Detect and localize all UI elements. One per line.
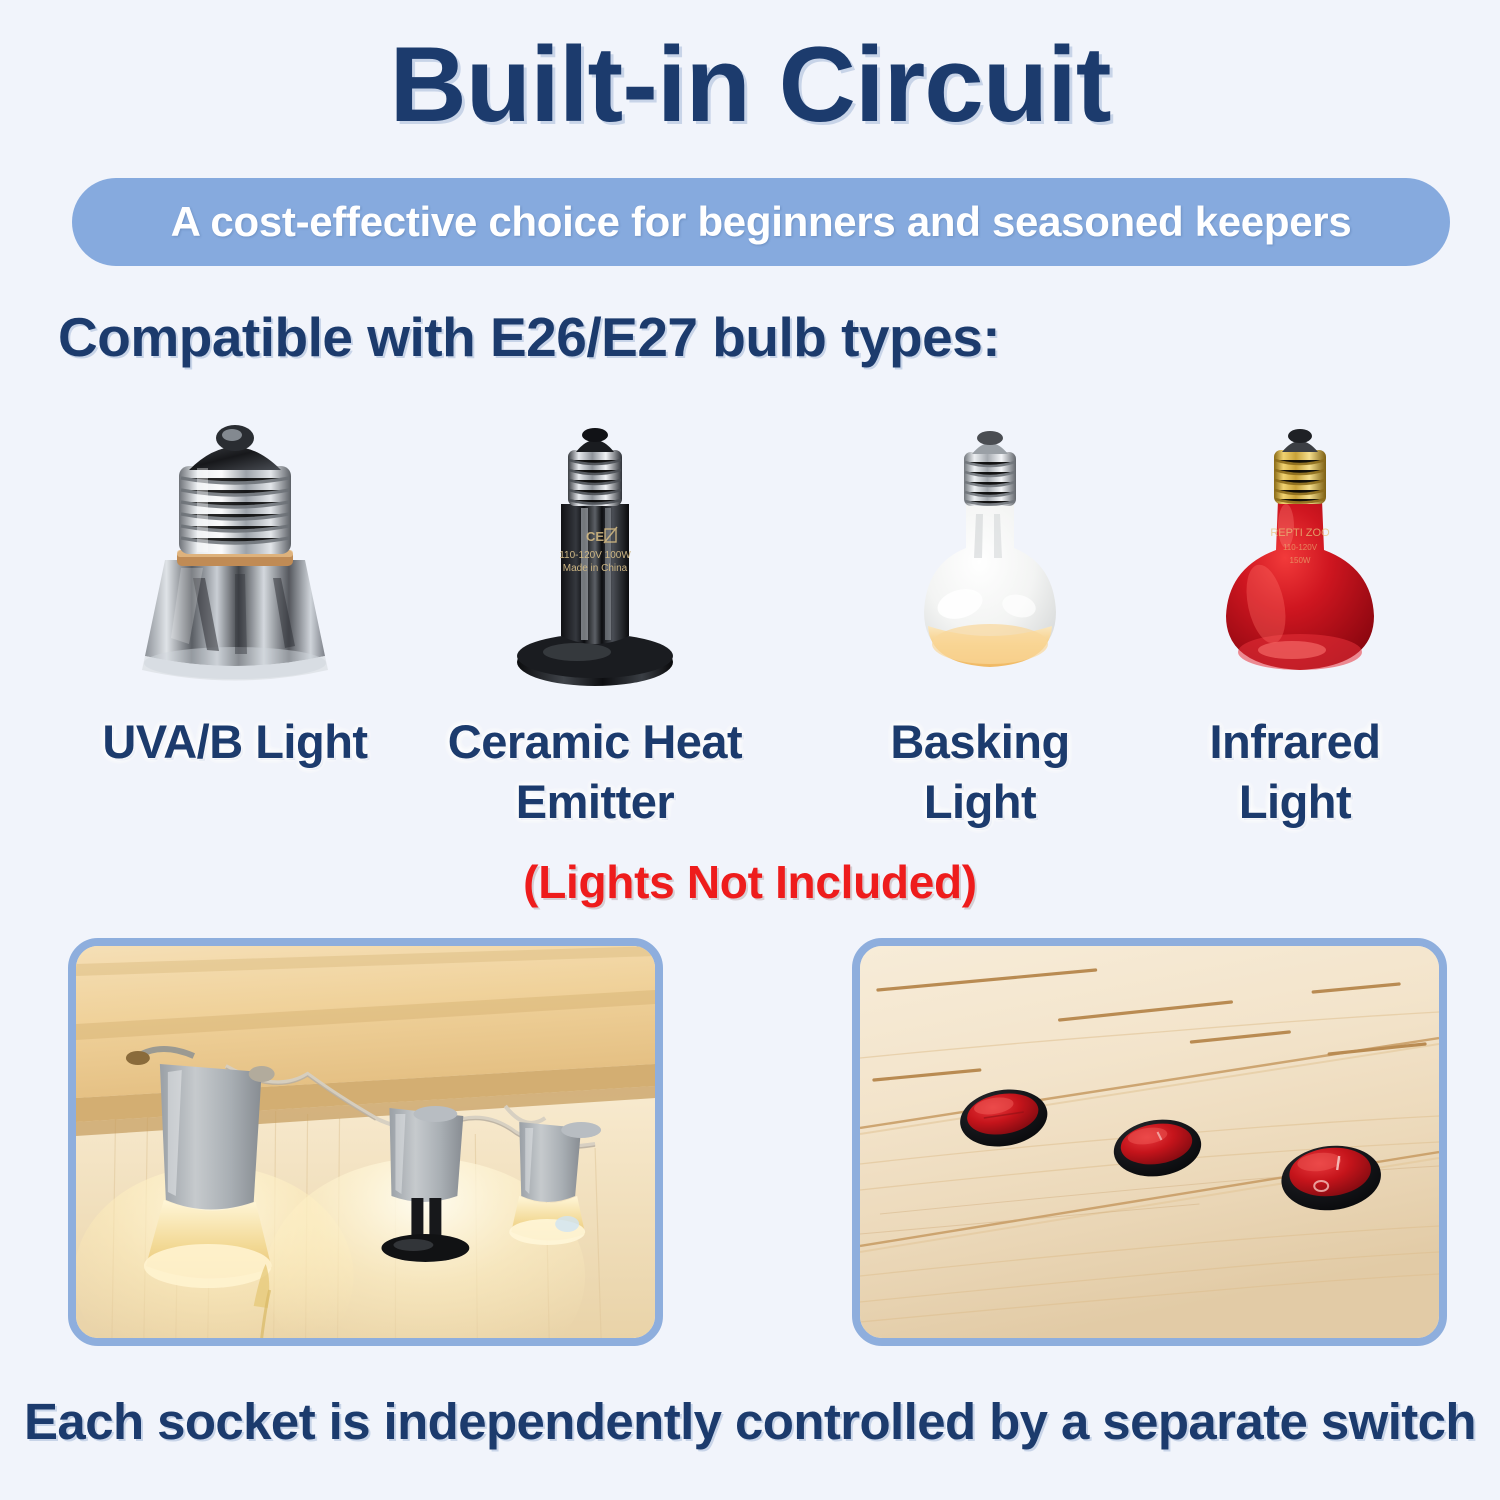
photo-lamp-sockets-inside-enclosure: [68, 938, 663, 1346]
infrared-bulb-icon: REPTI ZOO 110-120V 150W: [1150, 408, 1450, 708]
bulb-item-ceramic-heat-emitter: CE 110-120V 100W Made in China: [445, 408, 745, 708]
svg-text:110-120V 100W: 110-120V 100W: [559, 550, 631, 561]
subtitle-banner: A cost-effective choice for beginners an…: [72, 178, 1450, 266]
bulb-label-basking: BaskingLight: [800, 712, 1160, 832]
bulb-item-basking: [840, 408, 1140, 708]
page-title: Built-in Circuit: [0, 28, 1500, 140]
svg-text:Made in China: Made in China: [563, 563, 628, 574]
bulb-item-uvab: [85, 408, 385, 708]
bulb-label-ceramic: Ceramic HeatEmitter: [395, 712, 795, 832]
svg-text:CE: CE: [586, 529, 604, 544]
uvb-reflector-bulb-icon: [85, 408, 385, 708]
bottom-caption: Each socket is independently controlled …: [0, 1392, 1500, 1451]
lights-not-included-note: (Lights Not Included): [0, 855, 1500, 909]
bulb-item-infrared: REPTI ZOO 110-120V 150W: [1150, 408, 1450, 708]
subtitle-text: A cost-effective choice for beginners an…: [171, 198, 1352, 246]
svg-text:150W: 150W: [1290, 556, 1311, 565]
svg-text:REPTI ZOO: REPTI ZOO: [1270, 527, 1330, 539]
lamp-sockets-photo: [76, 946, 655, 1338]
ceramic-heat-emitter-icon: CE 110-120V 100W Made in China: [445, 408, 745, 708]
compatibility-heading: Compatible with E26/E27 bulb types:: [58, 305, 1000, 369]
photo-rocker-switch-panel: [852, 938, 1447, 1346]
bulb-label-uvab: UVA/B Light: [35, 712, 435, 772]
basking-bulb-icon: [840, 408, 1140, 708]
bulb-label-infrared: InfraredLight: [1115, 712, 1475, 832]
bulb-gallery: CE 110-120V 100W Made in China: [0, 408, 1500, 708]
svg-text:110-120V: 110-120V: [1283, 543, 1318, 552]
bulb-labels: UVA/B Light Ceramic HeatEmitter BaskingL…: [0, 712, 1500, 842]
rocker-switch-photo: [860, 946, 1439, 1338]
